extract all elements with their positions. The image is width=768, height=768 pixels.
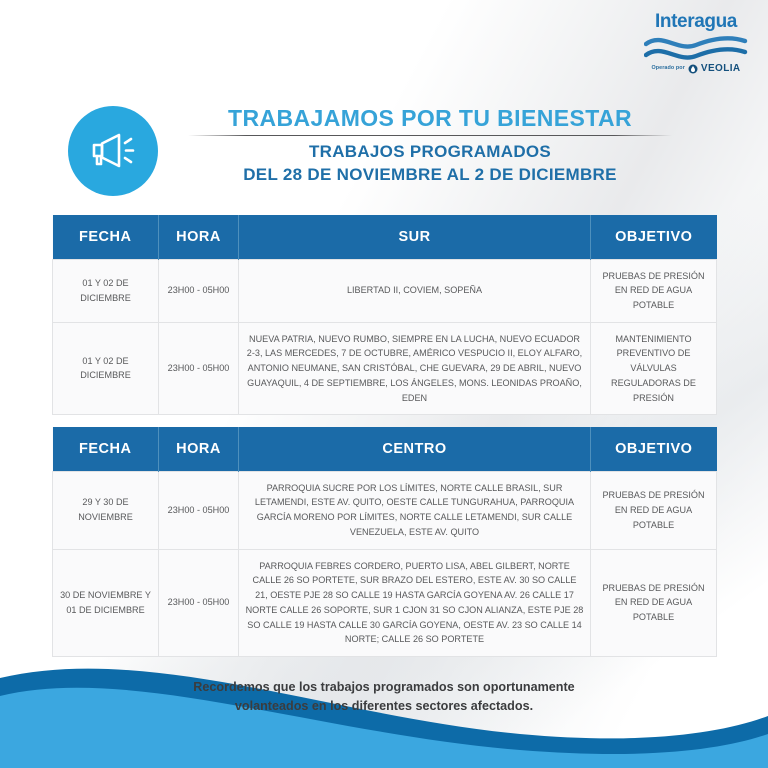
cell-sectores: LIBERTAD II, COVIEM, SOPEÑA [239,259,591,322]
table-row: 01 Y 02 DE DICIEMBRE 23H00 - 05H00 LIBER… [53,259,717,322]
brand-name: Interagua [640,12,752,31]
header-banner: TRABAJAMOS POR TU BIENESTAR TRABAJOS PRO… [0,104,768,204]
table-header-row: FECHA HORA SUR OBJETIVO [53,215,717,259]
footer-note: Recordemos que los trabajos programados … [0,678,768,716]
schedule-table-sur: FECHA HORA SUR OBJETIVO 01 Y 02 DE DICIE… [52,215,717,415]
cell-hora: 23H00 - 05H00 [159,549,239,656]
cell-objetivo: MANTENIMIENTO PREVENTIVO DE VÁLVULAS REG… [591,322,717,415]
column-header-objetivo: OBJETIVO [591,427,717,471]
cell-hora: 23H00 - 05H00 [159,259,239,322]
cell-sectores: PARROQUIA SUCRE POR LOS LÍMITES, NORTE C… [239,471,591,549]
banner-divider [188,135,672,136]
cell-objetivo: PRUEBAS DE PRESIÓN EN RED DE AGUA POTABL… [591,259,717,322]
banner-subtitle-line2: DEL 28 DE NOVIEMBRE AL 2 DE DICIEMBRE [180,163,680,186]
column-header-hora: HORA [159,215,239,259]
cell-fecha: 29 Y 30 DE NOVIEMBRE [53,471,159,549]
cell-fecha: 01 Y 02 DE DICIEMBRE [53,259,159,322]
cell-fecha: 01 Y 02 DE DICIEMBRE [53,322,159,415]
operator-name: VEOLIA [701,64,741,74]
column-header-zone-sur: SUR [239,215,591,259]
megaphone-badge [68,106,158,196]
table-row: 29 Y 30 DE NOVIEMBRE 23H00 - 05H00 PARRO… [53,471,717,549]
banner-title: TRABAJAMOS POR TU BIENESTAR [180,104,680,133]
megaphone-icon [88,129,138,173]
operated-by-label: Operado por [651,66,684,71]
schedule-table-centro: FECHA HORA CENTRO OBJETIVO 29 Y 30 DE NO… [52,427,717,657]
column-header-zone-centro: CENTRO [239,427,591,471]
banner-subtitle-line1: TRABAJOS PROGRAMADOS [180,140,680,163]
cell-fecha: 30 DE NOVIEMBRE Y 01 DE DICIEMBRE [53,549,159,656]
cell-objetivo: PRUEBAS DE PRESIÓN EN RED DE AGUA POTABL… [591,471,717,549]
cell-objetivo: PRUEBAS DE PRESIÓN EN RED DE AGUA POTABL… [591,549,717,656]
table-header-row: FECHA HORA CENTRO OBJETIVO [53,427,717,471]
column-header-fecha: FECHA [53,427,159,471]
water-waves-icon [644,32,748,62]
banner-text-block: TRABAJAMOS POR TU BIENESTAR TRABAJOS PRO… [180,104,680,187]
veolia-drop-icon [688,64,698,74]
table-row: 30 DE NOVIEMBRE Y 01 DE DICIEMBRE 23H00 … [53,549,717,656]
cell-sectores: PARROQUIA FEBRES CORDERO, PUERTO LISA, A… [239,549,591,656]
cell-hora: 23H00 - 05H00 [159,322,239,415]
footer-line-2: volanteados en los diferentes sectores a… [0,697,768,716]
column-header-hora: HORA [159,427,239,471]
cell-sectores: NUEVA PATRIA, NUEVO RUMBO, SIEMPRE EN LA… [239,322,591,415]
cell-hora: 23H00 - 05H00 [159,471,239,549]
schedule-tables: FECHA HORA SUR OBJETIVO 01 Y 02 DE DICIE… [52,215,716,657]
column-header-objetivo: OBJETIVO [591,215,717,259]
brand-logo: Interagua Operado por VEOLIA [640,12,752,74]
table-row: 01 Y 02 DE DICIEMBRE 23H00 - 05H00 NUEVA… [53,322,717,415]
operator-credit: Operado por VEOLIA [640,64,752,74]
footer-line-1: Recordemos que los trabajos programados … [0,678,768,697]
column-header-fecha: FECHA [53,215,159,259]
